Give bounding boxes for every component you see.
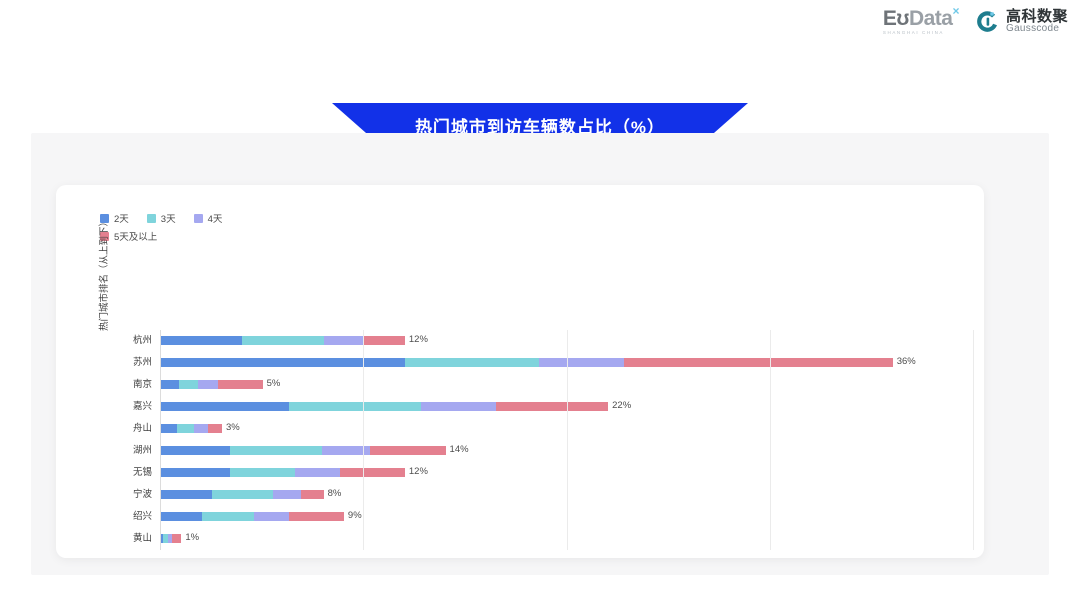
bar-segment[interactable]: [242, 336, 323, 345]
gausscode-logo: 高科数聚 Gausscode: [975, 9, 1068, 35]
bar-value-label: 9%: [348, 510, 362, 521]
bar-segment[interactable]: [421, 402, 496, 411]
bar-segment[interactable]: [624, 358, 892, 367]
bar-segment[interactable]: [289, 512, 344, 521]
bar-segment[interactable]: [177, 424, 193, 433]
stacked-bar[interactable]: [161, 468, 405, 477]
bar-segment[interactable]: [539, 358, 624, 367]
evdata-tagline: shanghai china: [883, 31, 944, 36]
bar-segment[interactable]: [172, 534, 181, 543]
bar-segment[interactable]: [230, 446, 321, 455]
stacked-bar[interactable]: [161, 512, 344, 521]
stacked-bar[interactable]: [161, 336, 405, 345]
y-axis-tick-label: 黄山: [90, 528, 152, 550]
x-gridline: [567, 330, 568, 550]
gausscode-text: 高科数聚 Gausscode: [1006, 9, 1068, 35]
bar-value-label: 12%: [409, 466, 428, 477]
bar-segment[interactable]: [179, 380, 197, 389]
evdata-superscript-icon: ×: [952, 5, 959, 17]
bar-value-label: 22%: [612, 400, 631, 411]
evdata-logo: EʊData× shanghai china: [883, 8, 959, 36]
bar-value-label: 8%: [328, 488, 342, 499]
bar-segment[interactable]: [202, 512, 255, 521]
plot-area: 杭州12%苏州36%南京5%嘉兴22%舟山3%湖州14%无锡12%宁波8%绍兴9…: [160, 330, 973, 550]
bar-segment[interactable]: [161, 468, 230, 477]
bar-value-label: 1%: [185, 532, 199, 543]
y-axis-tick-label: 苏州: [90, 352, 152, 374]
bar-segment[interactable]: [324, 336, 365, 345]
y-axis-tick-label: 绍兴: [90, 506, 152, 528]
stacked-bar[interactable]: [161, 424, 222, 433]
stacked-bar[interactable]: [161, 446, 446, 455]
gausscode-g-mark-icon: [975, 9, 1000, 34]
x-gridline: [973, 330, 974, 550]
bar-segment[interactable]: [273, 490, 301, 499]
evdata-wordmark: EʊData×: [883, 8, 959, 29]
chart-card: 2天3天4天5天及以上 热门城市排名（从上到下） 杭州12%苏州36%南京5%嘉…: [56, 185, 984, 558]
stacked-bar[interactable]: [161, 380, 263, 389]
bar-value-label: 36%: [897, 356, 916, 367]
x-gridline: [770, 330, 771, 550]
stacked-bar-chart: 热门城市排名（从上到下） 杭州12%苏州36%南京5%嘉兴22%舟山3%湖州14…: [56, 185, 984, 558]
bar-segment[interactable]: [230, 468, 295, 477]
bar-segment[interactable]: [254, 512, 289, 521]
evdata-suffix: Data: [909, 8, 953, 29]
bar-segment[interactable]: [161, 446, 230, 455]
bar-segment[interactable]: [161, 402, 289, 411]
bar-value-label: 14%: [450, 444, 469, 455]
stacked-bar[interactable]: [161, 490, 324, 499]
gausscode-name-en: Gausscode: [1006, 24, 1068, 35]
bar-segment[interactable]: [198, 380, 218, 389]
y-axis-tick-label: 杭州: [90, 330, 152, 352]
bar-segment[interactable]: [289, 402, 421, 411]
stacked-bar[interactable]: [161, 358, 893, 367]
bar-segment[interactable]: [405, 358, 539, 367]
bar-segment[interactable]: [496, 402, 608, 411]
gausscode-name-cn: 高科数聚: [1006, 9, 1068, 25]
bar-segment[interactable]: [161, 512, 202, 521]
stacked-bar[interactable]: [161, 402, 608, 411]
bar-segment[interactable]: [301, 490, 323, 499]
y-axis-tick-label: 舟山: [90, 418, 152, 440]
bar-segment[interactable]: [161, 490, 212, 499]
bar-segment[interactable]: [161, 336, 242, 345]
bar-segment[interactable]: [364, 336, 405, 345]
bar-segment[interactable]: [218, 380, 263, 389]
bar-value-label: 5%: [267, 378, 281, 389]
bar-segment[interactable]: [161, 424, 177, 433]
bar-segment[interactable]: [212, 490, 273, 499]
y-axis-tick-label: 宁波: [90, 484, 152, 506]
bar-segment[interactable]: [208, 424, 222, 433]
content-panel: 2天3天4天5天及以上 热门城市排名（从上到下） 杭州12%苏州36%南京5%嘉…: [31, 133, 1049, 575]
bar-segment[interactable]: [340, 468, 405, 477]
stacked-bar[interactable]: [161, 534, 181, 543]
bar-value-label: 3%: [226, 422, 240, 433]
brand-bar: EʊData× shanghai china 高科数聚 Gausscode: [883, 8, 1068, 36]
bar-segment[interactable]: [194, 424, 208, 433]
bar-segment[interactable]: [161, 380, 179, 389]
y-axis-tick-label: 嘉兴: [90, 396, 152, 418]
x-gridline: [363, 330, 364, 550]
bar-segment[interactable]: [370, 446, 445, 455]
y-axis-tick-label: 湖州: [90, 440, 152, 462]
bar-segment[interactable]: [161, 358, 405, 367]
y-axis-tick-label: 南京: [90, 374, 152, 396]
y-axis-tick-label: 无锡: [90, 462, 152, 484]
bar-value-label: 12%: [409, 334, 428, 345]
bar-segment[interactable]: [295, 468, 340, 477]
evdata-prefix: Eʊ: [883, 8, 909, 29]
